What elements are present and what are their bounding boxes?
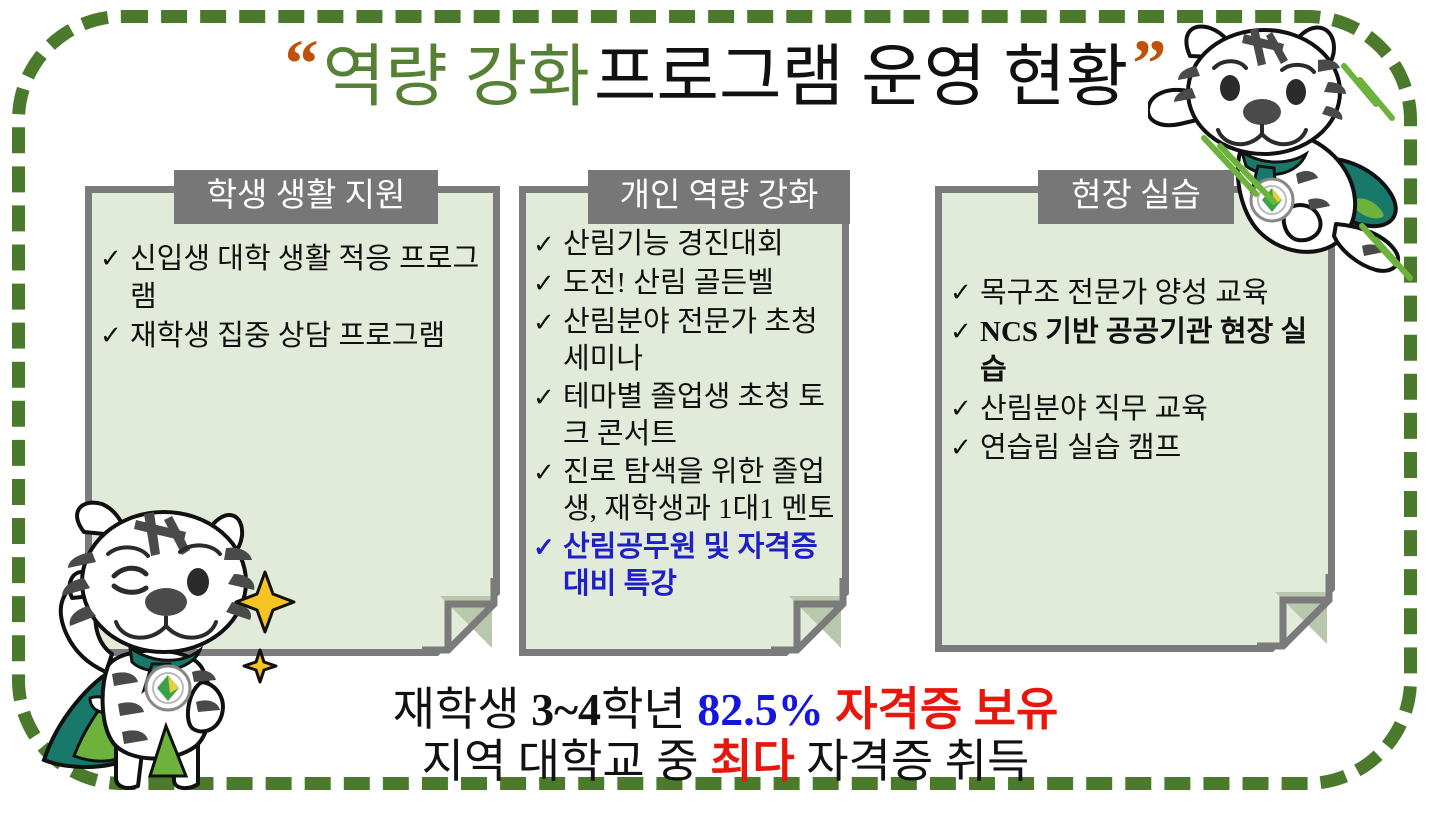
right-eye bbox=[1286, 79, 1306, 105]
check-icon: ✓ bbox=[533, 304, 563, 342]
list-item: ✓ 연습림 실습 캠프 bbox=[950, 429, 1324, 467]
list-item-label: 진로 탐색을 위한 졸업생, 재학생과 1대1 멘토 bbox=[563, 454, 841, 528]
footer-grade-range: 3~4 bbox=[531, 684, 601, 735]
footer-text: 자격증 취득 bbox=[795, 736, 1030, 787]
list-item: ✓ 진로 탐색을 위한 졸업생, 재학생과 1대1 멘토 bbox=[533, 454, 841, 528]
check-icon: ✓ bbox=[950, 429, 980, 467]
footer-percentage: 82.5% bbox=[697, 684, 824, 735]
check-icon: ✓ bbox=[533, 226, 563, 264]
footer-cert-held: 자격증 보유 bbox=[824, 684, 1059, 735]
list-item-highlighted: ✓ 산림공무원 및 자격증 대비 특강 bbox=[533, 529, 841, 603]
list-item: ✓ 산림기능 경진대회 bbox=[533, 226, 841, 264]
check-icon: ✓ bbox=[100, 240, 130, 278]
list-item-label: 연습림 실습 캠프 bbox=[980, 429, 1324, 467]
nose bbox=[145, 588, 187, 616]
list-item: ✓ 재학생 집중 상담 프로그램 bbox=[100, 317, 492, 355]
card-tab-student-life-support: 학생 생활 지원 bbox=[174, 170, 438, 224]
list-item: ✓ 테마별 졸업생 초청 토크 콘서트 bbox=[533, 379, 841, 453]
check-icon: ✓ bbox=[950, 274, 980, 312]
open-quote-icon: “ bbox=[285, 25, 319, 101]
title-highlight: 역량 강화 bbox=[323, 39, 590, 115]
poster-canvas: “ 역량 강화 프로그램 운영 현황 ” 학생 생활 지원 ✓ 신입생 대학 생… bbox=[0, 0, 1451, 814]
pointing-tiger-mascot bbox=[20, 498, 320, 798]
check-icon: ✓ bbox=[533, 529, 563, 567]
flying-tiger-mascot bbox=[1148, 14, 1448, 304]
open-eye bbox=[187, 568, 209, 596]
list-item-label: 산림기능 경진대회 bbox=[563, 226, 841, 263]
footer-text: 학년 bbox=[601, 684, 697, 735]
title-rest: 프로그램 운영 현황 bbox=[594, 39, 1128, 115]
list-item-label: 산림분야 직무 교육 bbox=[980, 390, 1324, 428]
list-item-label: NCS 기반 공공기관 현장 실습 bbox=[980, 313, 1324, 389]
page-fold-triangle bbox=[440, 596, 492, 648]
list-item-label: 도전! 산림 골든벨 bbox=[563, 265, 841, 302]
nose bbox=[1243, 99, 1281, 125]
list-item-label: 재학생 집중 상담 프로그램 bbox=[130, 317, 492, 355]
list-item-label: 산림공무원 및 자격증 대비 특강 bbox=[563, 529, 841, 603]
university-badge bbox=[146, 666, 190, 710]
card-list-student-life-support: ✓ 신입생 대학 생활 적응 프로그램 ✓ 재학생 집중 상담 프로그램 bbox=[100, 240, 492, 356]
card-tab-personal-competency: 개인 역량 강화 bbox=[588, 170, 850, 224]
check-icon: ✓ bbox=[533, 265, 563, 303]
list-item: ✓ 도전! 산림 골든벨 bbox=[533, 265, 841, 303]
check-icon: ✓ bbox=[950, 313, 980, 351]
card-list-personal-competency: ✓ 산림기능 경진대회 ✓ 도전! 산림 골든벨 ✓ 산림분야 전문가 초청 세… bbox=[533, 226, 841, 604]
left-eye bbox=[1220, 75, 1240, 101]
footer-most-label: 최다 bbox=[710, 736, 795, 787]
page-fold-triangle bbox=[1275, 592, 1327, 644]
footer-text: 재학생 bbox=[393, 684, 531, 735]
list-item: ✓ 신입생 대학 생활 적응 프로그램 bbox=[100, 240, 492, 316]
check-icon: ✓ bbox=[533, 379, 563, 417]
list-item: ✓ 산림분야 전문가 초청 세미나 bbox=[533, 304, 841, 378]
list-item-label: 산림분야 전문가 초청 세미나 bbox=[563, 304, 841, 378]
check-icon: ✓ bbox=[950, 390, 980, 428]
check-icon: ✓ bbox=[100, 317, 130, 355]
list-item-label: 테마별 졸업생 초청 토크 콘서트 bbox=[563, 379, 841, 453]
list-item: ✓ NCS 기반 공공기관 현장 실습 bbox=[950, 313, 1324, 389]
list-item-label: 신입생 대학 생활 적응 프로그램 bbox=[130, 240, 492, 316]
list-item: ✓ 산림분야 직무 교육 bbox=[950, 390, 1324, 428]
footer-text: 지역 대학교 중 bbox=[422, 736, 710, 787]
check-icon: ✓ bbox=[533, 454, 563, 492]
